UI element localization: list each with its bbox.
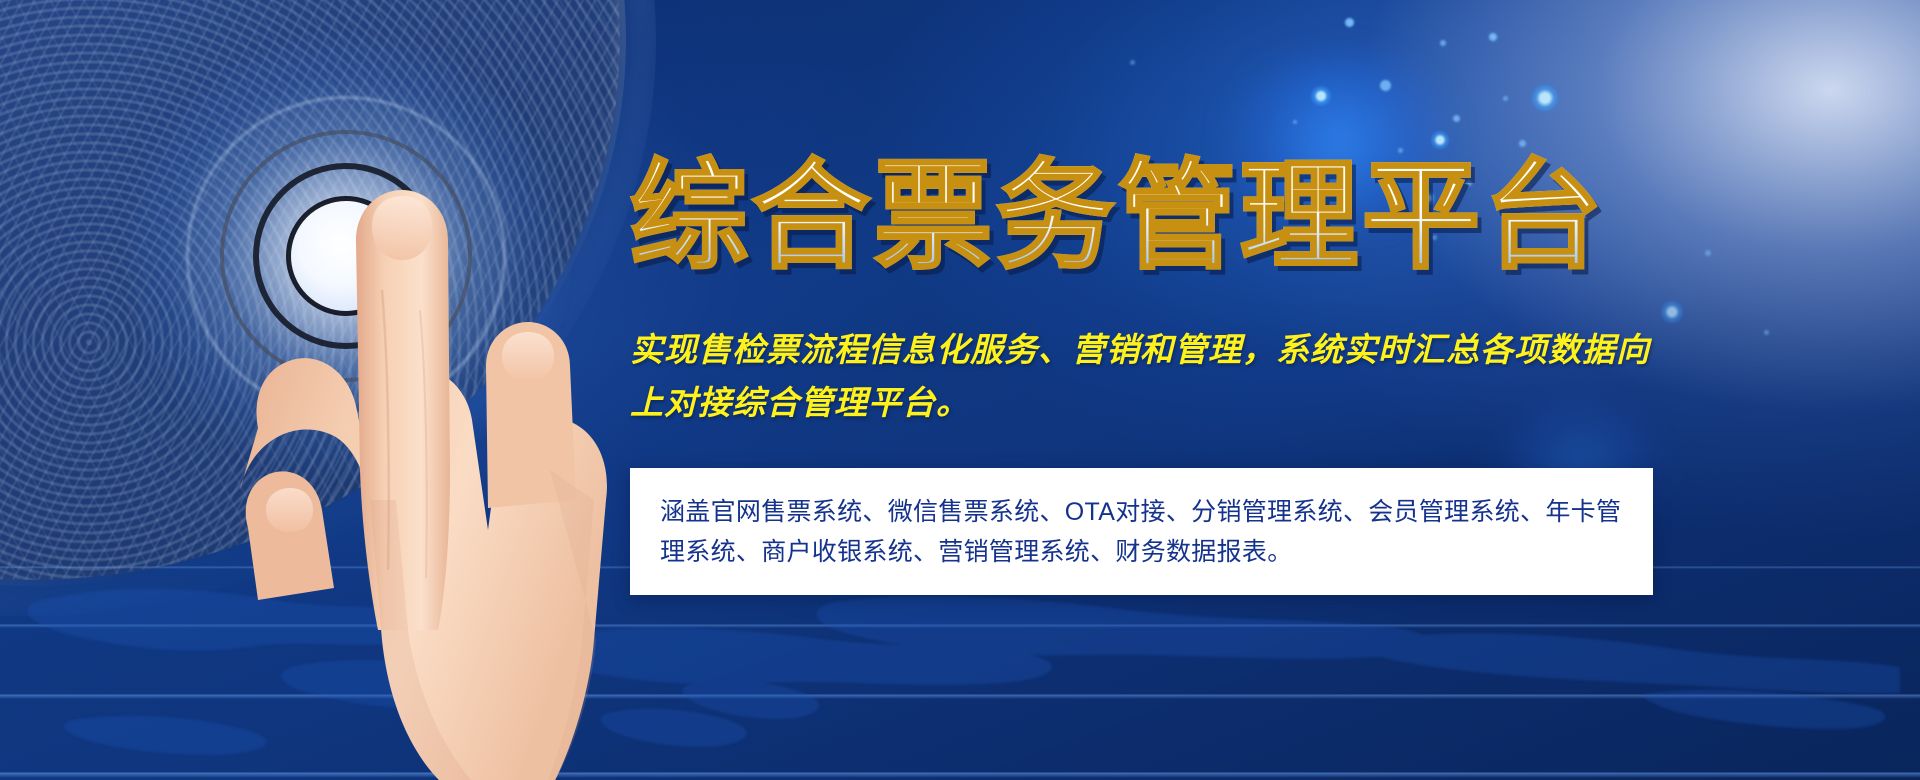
particle-ring-icon bbox=[1310, 85, 1332, 107]
banner-content: 综合票务管理平台 实现售检票流程信息化服务、营销和管理，系统实时汇总各项数据向上… bbox=[630, 150, 1690, 595]
particle-dot-icon bbox=[1764, 330, 1769, 335]
particle-dot-icon bbox=[1380, 80, 1391, 91]
feature-list-text: 涵盖官网售票系统、微信售票系统、OTA对接、分销管理系统、会员管理系统、年卡管理… bbox=[660, 492, 1623, 573]
particle-dot-icon bbox=[1503, 96, 1508, 101]
particle-ring-icon bbox=[1430, 130, 1450, 150]
banner-subtitle: 实现售检票流程信息化服务、营销和管理，系统实时汇总各项数据向上对接综合管理平台。 bbox=[630, 325, 1670, 432]
particle-ring-icon bbox=[1530, 83, 1560, 113]
particle-dot-icon bbox=[1293, 120, 1297, 124]
hero-banner: 综合票务管理平台 实现售检票流程信息化服务、营销和管理，系统实时汇总各项数据向上… bbox=[0, 0, 1920, 780]
particle-dot-icon bbox=[1519, 140, 1526, 147]
particle-dot-icon bbox=[1440, 40, 1446, 46]
particle-dot-icon bbox=[1345, 18, 1354, 27]
feature-list-panel: 涵盖官网售票系统、微信售票系统、OTA对接、分销管理系统、会员管理系统、年卡管理… bbox=[630, 468, 1653, 595]
particle-dot-icon bbox=[1130, 60, 1135, 65]
particle-dot-icon bbox=[1705, 250, 1711, 256]
page-title: 综合票务管理平台 bbox=[630, 150, 1690, 287]
particle-dot-icon bbox=[1453, 115, 1460, 122]
particle-dot-icon bbox=[1489, 33, 1497, 41]
pointing-hand-icon bbox=[120, 170, 640, 780]
